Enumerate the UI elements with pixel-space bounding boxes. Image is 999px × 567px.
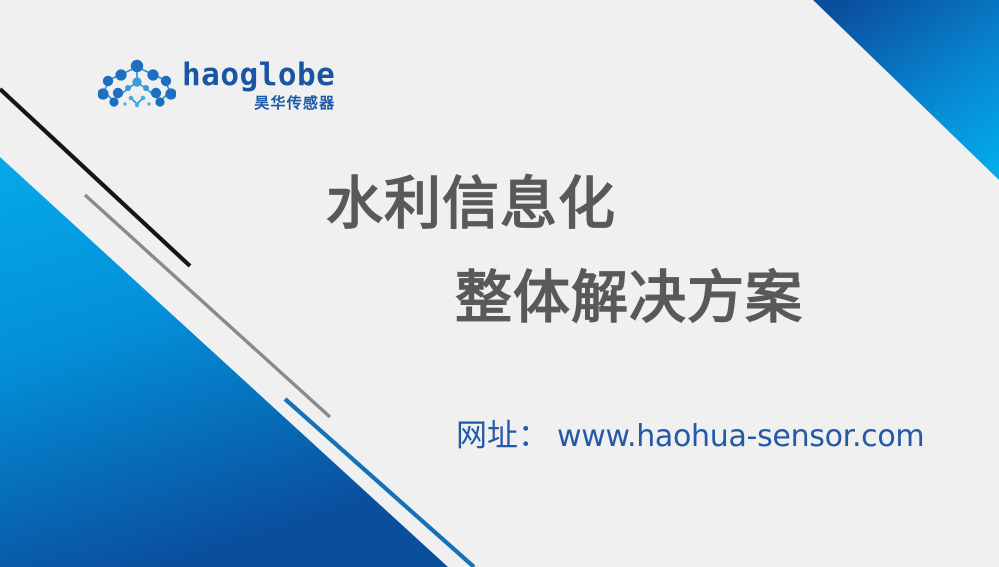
network-dots-logo-icon (98, 58, 176, 114)
logo-subtext-chinese: 昊华传感器 (254, 96, 335, 111)
logo-text-group: haoglobe 昊华传感器 (182, 58, 335, 111)
presentation-title-slide: haoglobe 昊华传感器 水利信息化 整体解决方案 网址： www.haoh… (0, 0, 999, 567)
company-logo: haoglobe 昊华传感器 (98, 58, 328, 120)
slide-title-line-2: 整体解决方案 (455, 270, 803, 327)
logo-wordmark: haoglobe (182, 60, 335, 91)
top-right-blue-triangle (813, 0, 999, 180)
slide-title-line-1: 水利信息化 (326, 176, 616, 233)
website-line: 网址： www.haohua-sensor.com (456, 421, 924, 452)
website-label: 网址： (456, 421, 549, 452)
website-url[interactable]: www.haohua-sensor.com (557, 422, 924, 452)
